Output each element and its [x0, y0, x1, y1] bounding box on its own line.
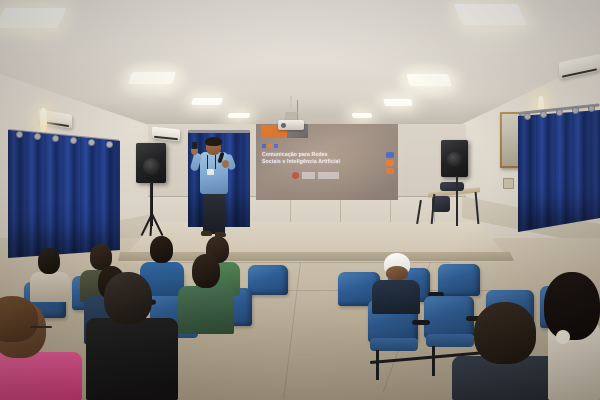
- framed-picture: [500, 112, 521, 168]
- audience-member-head: [104, 272, 152, 324]
- slide-dot: [274, 144, 278, 148]
- ceiling-light-panel: [453, 4, 526, 25]
- curtain-grommet: [524, 113, 531, 120]
- audience-member-body: [30, 272, 70, 302]
- floral-pattern: [556, 330, 570, 344]
- curtain-grommet: [16, 131, 23, 138]
- table-leg: [456, 176, 458, 226]
- presenter-legs: [203, 190, 225, 234]
- stage-edge: [118, 252, 514, 261]
- projector-lens: [281, 123, 286, 128]
- slide-logo-wordmark: [318, 172, 339, 179]
- ceiling-light-panel: [227, 113, 250, 118]
- curtain-grommet: [70, 137, 77, 144]
- slide-logo-wordmark: [302, 172, 315, 179]
- curtain-grommet: [540, 111, 547, 118]
- ceiling-light-panel: [0, 8, 67, 28]
- slide-logo-mark: [292, 172, 299, 179]
- audience-member-head: [38, 248, 60, 274]
- speaker-cone: [447, 152, 462, 167]
- slide-deco-pill: [386, 160, 394, 166]
- audience-member-head: [150, 236, 173, 263]
- curtain-right: [518, 110, 600, 232]
- slide-title-line2: Sociais e Inteligência Artificial: [262, 159, 382, 166]
- slide-dot: [262, 144, 266, 148]
- audience-member-head: [544, 272, 600, 340]
- speaker-cone: [143, 158, 160, 175]
- projector-cable: [297, 100, 298, 122]
- slide-deco-pill: [386, 152, 394, 158]
- curtain-grommet: [556, 109, 563, 116]
- slide-dot: [268, 144, 272, 148]
- ceiling-light-panel: [352, 113, 373, 118]
- curtain-grommet: [34, 133, 41, 140]
- ceiling-light-halo: [392, 60, 470, 102]
- ceiling-light-panel: [191, 98, 223, 105]
- presenter-hair: [205, 137, 222, 146]
- ceiling-light-panel: [383, 99, 413, 106]
- curtain-grommet: [588, 105, 595, 112]
- curtain-grommet: [88, 139, 95, 146]
- chair-armrest: [412, 320, 430, 325]
- curtain-left: [8, 130, 120, 258]
- slide-deco-pill: [386, 168, 394, 174]
- slide-logo-row: [292, 171, 339, 180]
- presenter-hand-right: [222, 160, 229, 168]
- audience-member-head: [386, 266, 408, 280]
- audience-member-body: [0, 352, 82, 400]
- presenter-lanyard: [207, 155, 208, 169]
- curtain-rod: [188, 130, 250, 133]
- slide-title: Comunicação para Redes Sociais e Intelig…: [262, 152, 382, 167]
- curtain-grommet: [52, 135, 59, 142]
- curtain-grommet: [572, 107, 579, 114]
- eyeglasses: [30, 326, 52, 328]
- presenter-shoe: [201, 231, 212, 236]
- curtain-grommet: [106, 141, 113, 148]
- audience-member-body: [86, 318, 178, 400]
- wall-sconce-light: [40, 108, 47, 132]
- audience-member-head: [192, 254, 220, 288]
- ceiling-light-halo: [112, 58, 194, 102]
- audience-member-body: [178, 286, 234, 334]
- chair-frame-leg: [432, 346, 435, 376]
- audience-member-head: [474, 302, 536, 364]
- presentation-clicker: [192, 142, 197, 149]
- audience-member-body: [372, 280, 420, 314]
- presenter-lanyard: [215, 155, 216, 169]
- auditorium-photo: Comunicação para Redes Sociais e Intelig…: [0, 0, 600, 400]
- presenter-badge: [207, 169, 214, 175]
- wall-outlet: [503, 178, 514, 189]
- chair[interactable]: [248, 265, 288, 295]
- chair-frame-leg: [376, 350, 379, 380]
- slide-side-decoration: [386, 152, 394, 176]
- chair[interactable]: [438, 264, 480, 296]
- projection-screen: Comunicação para Redes Sociais e Intelig…: [256, 124, 398, 200]
- equipment-gear: [440, 182, 464, 191]
